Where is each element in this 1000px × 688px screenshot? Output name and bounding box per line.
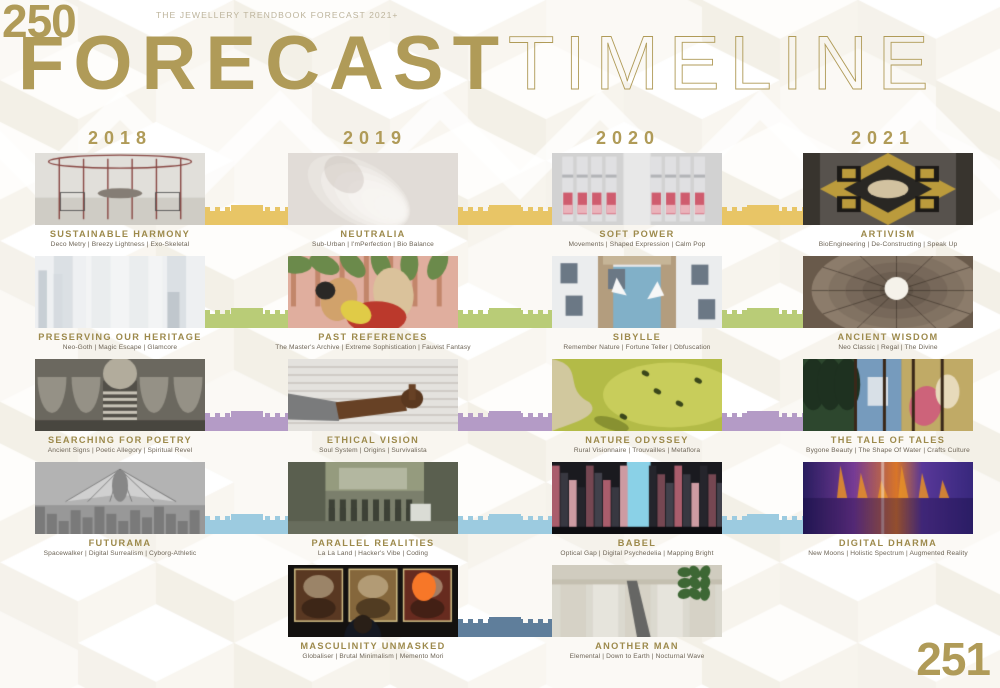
- trend-keywords: Neo Classic | Regal | The Divine: [788, 344, 988, 351]
- trend-thumbnail-purple-mirror-fire[interactable]: [803, 462, 973, 534]
- year-label-2021: 2021: [783, 128, 983, 149]
- connector-0-1-2: [458, 205, 552, 225]
- masthead: THE JEWELLERY TRENDBOOK FORECAST 2021+ F…: [0, 0, 1000, 120]
- trend-keywords: Remember Nature | Fortune Teller | Obfus…: [537, 344, 737, 351]
- connector-2-2-3: [722, 411, 803, 431]
- trend-title: PAST REFERENCES: [273, 332, 473, 342]
- trend-thumbnail-pink-machines[interactable]: [552, 153, 722, 225]
- trend-title: ANCIENT WISDOM: [788, 332, 988, 342]
- trend-keywords: Deco Metry | Breezy Lightness | Exo-Skel…: [20, 241, 220, 248]
- connector-step: [489, 411, 521, 431]
- trend-title: PARALLEL REALITIES: [273, 538, 473, 548]
- connector-4-1-2: [458, 617, 552, 637]
- trend-title: MASCULINITY UNMASKED: [273, 641, 473, 651]
- trend-title: NEUTRALIA: [273, 229, 473, 239]
- trend-title: SEARCHING FOR POETRY: [20, 435, 220, 445]
- connector-step: [747, 205, 779, 225]
- trend-title: PRESERVING OUR HERITAGE: [20, 332, 220, 342]
- connector-step: [489, 617, 521, 637]
- connector-step: [489, 514, 521, 534]
- kicker-text: THE JEWELLERY TRENDBOOK FORECAST 2021+: [156, 10, 398, 20]
- page-number-left: 250: [2, 0, 76, 48]
- trend-title: THE TALE OF TALES: [788, 435, 988, 445]
- year-label-2020: 2020: [528, 128, 728, 149]
- trend-thumbnail-white-columns[interactable]: [35, 256, 205, 328]
- trend-thumbnail-museum-triptych[interactable]: [288, 565, 458, 637]
- page-title: FORECASTTIMELINE: [18, 26, 939, 102]
- trend-keywords: Rural Visionnaire | Trouvailles | Metafl…: [537, 447, 737, 454]
- trend-keywords: Ancient Signs | Poetic Allegory | Spirit…: [20, 447, 220, 454]
- connector-step: [747, 308, 779, 328]
- trend-thumbnail-interior-cage-room[interactable]: [35, 153, 205, 225]
- connector-1-1-2: [458, 308, 552, 328]
- page-number-right: 251: [916, 632, 990, 686]
- trend-title: NATURE ODYSSEY: [537, 435, 737, 445]
- trend-title: ARTIVISM: [788, 229, 988, 239]
- connector-3-1-2: [458, 514, 552, 534]
- connector-step: [231, 308, 263, 328]
- trend-thumbnail-gold-ceiling[interactable]: [803, 153, 973, 225]
- connector-step: [489, 308, 521, 328]
- connector-1-0-1: [205, 308, 288, 328]
- trend-keywords: Optical Gap | Digital Psychedelia | Mapp…: [537, 550, 737, 557]
- trend-title: FUTURAMA: [20, 538, 220, 548]
- connector-0-2-3: [722, 205, 803, 225]
- trend-keywords: Spacewalker | Digital Surrealism | Cybor…: [20, 550, 220, 557]
- connector-2-0-1: [205, 411, 288, 431]
- trend-thumbnail-blurred-street[interactable]: [288, 462, 458, 534]
- trend-keywords: Neo-Goth | Magic Escape | Glamcore: [20, 344, 220, 351]
- connector-3-0-1: [205, 514, 288, 534]
- trend-title: BABEL: [537, 538, 737, 548]
- trend-title: SOFT POWER: [537, 229, 737, 239]
- trend-thumbnail-city-blue-gap[interactable]: [552, 462, 722, 534]
- trend-thumbnail-columns-ivy[interactable]: [552, 565, 722, 637]
- connector-2-1-2: [458, 411, 552, 431]
- trend-thumbnail-pantheon-oculus[interactable]: [803, 256, 973, 328]
- trend-keywords: BioEngineering | De-Constructing | Speak…: [788, 241, 988, 248]
- trend-keywords: Soul System | Origins | Survivalista: [273, 447, 473, 454]
- trend-thumbnail-arm-thumbsup[interactable]: [288, 359, 458, 431]
- connector-step: [231, 205, 263, 225]
- trend-thumbnail-stone-arches[interactable]: [35, 359, 205, 431]
- trend-keywords: Globaliser | Brutal Minimalism | Memento…: [273, 653, 473, 660]
- trend-thumbnail-fauvist-painting[interactable]: [288, 256, 458, 328]
- trend-keywords: New Moons | Holistic Spectrum | Augmente…: [788, 550, 988, 557]
- connector-1-2-3: [722, 308, 803, 328]
- trend-keywords: The Master's Archive | Extreme Sophistic…: [273, 344, 473, 351]
- trend-title: DIGITAL DHARMA: [788, 538, 988, 548]
- connector-step: [489, 205, 521, 225]
- connector-0-0-1: [205, 205, 288, 225]
- trend-title: SIBYLLE: [537, 332, 737, 342]
- year-label-2019: 2019: [275, 128, 475, 149]
- title-timeline: TIMELINE: [508, 21, 939, 106]
- trend-keywords: Movements | Shaped Expression | Calm Pop: [537, 241, 737, 248]
- trend-keywords: La La Land | Hacker's Vibe | Coding: [273, 550, 473, 557]
- connector-3-2-3: [722, 514, 803, 534]
- title-forecast: FORECAST: [18, 21, 508, 106]
- trend-keywords: Elemental | Down to Earth | Nocturnal Wa…: [537, 653, 737, 660]
- connector-step: [747, 411, 779, 431]
- trend-title: ETHICAL VISION: [273, 435, 473, 445]
- connector-step: [231, 411, 263, 431]
- trend-thumbnail-white-folds[interactable]: [288, 153, 458, 225]
- trend-thumbnail-tapestry-scene[interactable]: [803, 359, 973, 431]
- trend-title: ANOTHER MAN: [537, 641, 737, 651]
- trend-keywords: Bygone Beauty | The Shape Of Water | Cra…: [788, 447, 988, 454]
- trend-thumbnail-blue-curtain-birds[interactable]: [552, 256, 722, 328]
- trend-title: SUSTAINABLE HARMONY: [20, 229, 220, 239]
- connector-step: [747, 514, 779, 534]
- year-label-2018: 2018: [20, 128, 220, 149]
- trend-keywords: Sub-Urban | I'mPerfection | Bio Balance: [273, 241, 473, 248]
- connector-step: [231, 514, 263, 534]
- trend-thumbnail-bw-zeppelin-city[interactable]: [35, 462, 205, 534]
- trend-thumbnail-green-algae-shore[interactable]: [552, 359, 722, 431]
